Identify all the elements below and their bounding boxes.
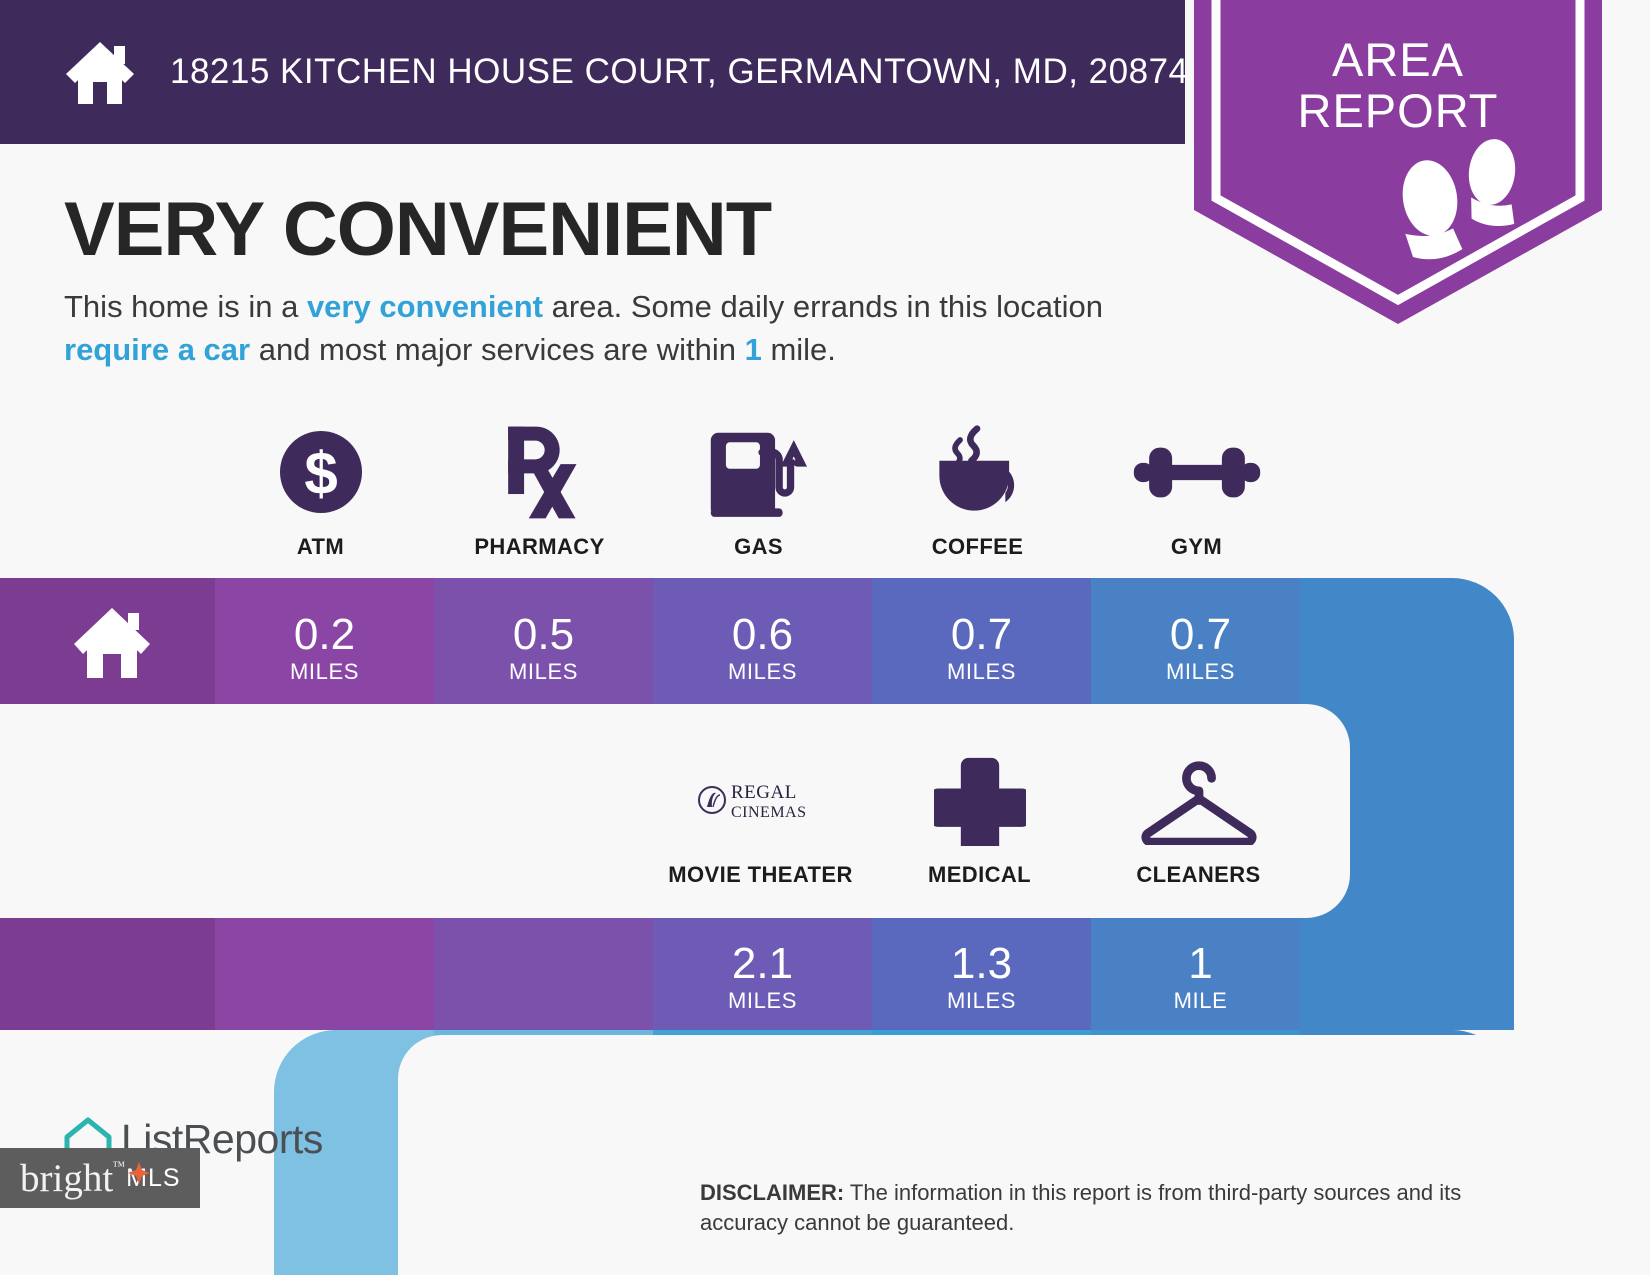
amenity-pharmacy: PHARMACY bbox=[430, 424, 649, 560]
distance-cell-gym: 0.7 MILES bbox=[1091, 611, 1310, 685]
desc-highlight-1: very convenient bbox=[307, 289, 543, 324]
disclaimer: DISCLAIMER: The information in this repo… bbox=[700, 1178, 1510, 1238]
bright-text: bright bbox=[20, 1157, 113, 1200]
distance-value: 0.2 bbox=[215, 611, 434, 659]
distance-unit: MILES bbox=[434, 659, 653, 685]
distance-cell-coffee: 0.7 MILES bbox=[872, 611, 1091, 685]
disclaimer-label: DISCLAIMER: bbox=[700, 1180, 844, 1205]
distance-unit: MILES bbox=[872, 659, 1091, 685]
amenity-label: GYM bbox=[1171, 534, 1222, 560]
hanger-icon bbox=[1136, 752, 1262, 848]
desc-highlight-3: 1 bbox=[745, 332, 762, 367]
distance-value: 2.1 bbox=[653, 940, 872, 988]
home-marker-icon bbox=[70, 600, 154, 689]
bright-wordmark: bright ™ bbox=[20, 1156, 113, 1201]
dumbbell-icon bbox=[1130, 424, 1264, 520]
amenity-gas: GAS bbox=[649, 424, 868, 560]
distance-cell-medical: 1.3 MILES bbox=[872, 940, 1091, 1014]
amenity-label: GAS bbox=[734, 534, 783, 560]
trademark-symbol: ™ bbox=[112, 1158, 125, 1174]
content-notch-lower bbox=[398, 1035, 1650, 1275]
amenity-label: CLEANERS bbox=[1136, 862, 1260, 888]
distance-unit: MILE bbox=[1091, 988, 1310, 1014]
amenity-coffee: COFFEE bbox=[868, 424, 1087, 560]
distance-unit: MILES bbox=[872, 988, 1091, 1014]
distance-unit: MILES bbox=[653, 988, 872, 1014]
page-title: VERY CONVENIENT bbox=[64, 186, 771, 273]
desc-highlight-2: require a car bbox=[64, 332, 250, 367]
desc-part-1: This home is in a bbox=[64, 289, 307, 324]
distance-cell-pharmacy: 0.5 MILES bbox=[434, 611, 653, 685]
amenity-label: MOVIE THEATER bbox=[668, 862, 852, 888]
medical-cross-icon bbox=[934, 752, 1026, 848]
amenity-cleaners: CLEANERS bbox=[1089, 752, 1308, 888]
distance-cell-cleaners: 1 MILE bbox=[1091, 940, 1310, 1014]
coffee-cup-icon bbox=[926, 424, 1030, 520]
amenity-icon-row-primary: $ ATM PHARMACY bbox=[211, 424, 1306, 560]
desc-part-4: mile. bbox=[762, 332, 836, 367]
home-icon bbox=[62, 34, 138, 110]
distance-value: 0.5 bbox=[434, 611, 653, 659]
distance-value: 1 bbox=[1091, 940, 1310, 988]
distance-value: 0.7 bbox=[1091, 611, 1310, 659]
amenity-label: COFFEE bbox=[932, 534, 1024, 560]
amenity-label: PHARMACY bbox=[474, 534, 604, 560]
amenity-atm: $ ATM bbox=[211, 424, 430, 560]
distance-unit: MILES bbox=[653, 659, 872, 685]
amenity-label: MEDICAL bbox=[928, 862, 1031, 888]
distance-cell-atm: 0.2 MILES bbox=[215, 611, 434, 685]
svg-text:CINEMAS: CINEMAS bbox=[731, 804, 807, 821]
distance-cell-gas: 0.6 MILES bbox=[653, 611, 872, 685]
badge-text: AREA REPORT bbox=[1194, 34, 1602, 136]
badge-line-2: REPORT bbox=[1194, 85, 1602, 136]
svg-text:REGAL: REGAL bbox=[731, 782, 797, 803]
desc-part-3: and most major services are within bbox=[250, 332, 744, 367]
bright-star-icon bbox=[128, 1162, 150, 1184]
desc-part-2: area. Some daily errands in this locatio… bbox=[543, 289, 1103, 324]
amenity-medical: MEDICAL bbox=[870, 752, 1089, 888]
gas-pump-icon bbox=[707, 424, 811, 520]
svg-text:$: $ bbox=[304, 440, 337, 507]
distance-unit: MILES bbox=[1091, 659, 1310, 685]
bright-mls-logo: bright ™ MLS bbox=[0, 1148, 200, 1208]
distance-cell-movie-theater: 2.1 MILES bbox=[653, 940, 872, 1014]
regal-cinemas-logo: REGAL CINEMAS bbox=[697, 752, 825, 848]
amenity-gym: GYM bbox=[1087, 424, 1306, 560]
amenity-movie-theater: REGAL CINEMAS MOVIE THEATER bbox=[651, 752, 870, 888]
distance-value: 0.6 bbox=[653, 611, 872, 659]
dollar-circle-icon: $ bbox=[273, 424, 369, 520]
distance-unit: MILES bbox=[215, 659, 434, 685]
distance-value: 0.7 bbox=[872, 611, 1091, 659]
badge-line-1: AREA bbox=[1194, 34, 1602, 85]
property-address: 18215 KITCHEN HOUSE COURT, GERMANTOWN, M… bbox=[170, 52, 1189, 92]
page-description: This home is in a very convenient area. … bbox=[64, 285, 1109, 371]
distance-value: 1.3 bbox=[872, 940, 1091, 988]
rx-icon bbox=[495, 424, 585, 520]
header-bar: 18215 KITCHEN HOUSE COURT, GERMANTOWN, M… bbox=[0, 0, 1185, 144]
amenity-label: ATM bbox=[297, 534, 344, 560]
area-report-badge: AREA REPORT bbox=[1194, 0, 1602, 324]
amenity-icon-row-secondary: REGAL CINEMAS MOVIE THEATER MEDICAL CLEA… bbox=[651, 752, 1308, 888]
